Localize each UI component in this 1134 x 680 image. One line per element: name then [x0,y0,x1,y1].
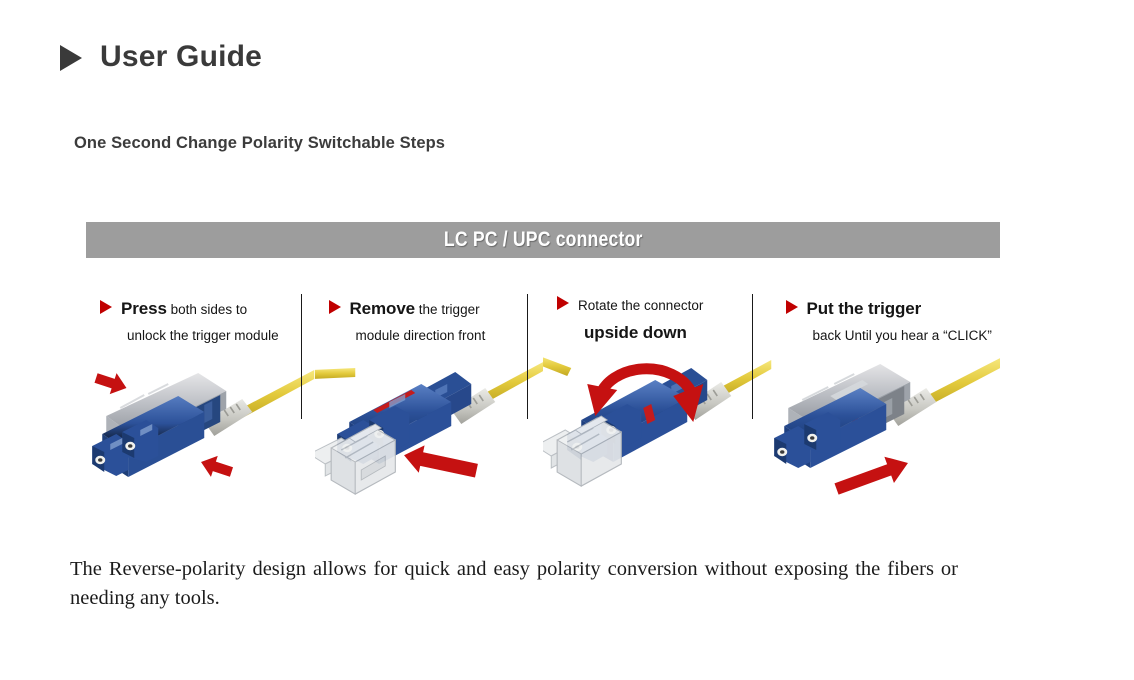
step-3: Rotate the connector upside down [543,258,772,498]
put-back-arrow [831,450,912,498]
press-arrow-bottom [198,452,235,483]
step-1-illustration [86,350,315,498]
step-2: Remove the trigger module direction fron… [315,258,544,498]
step-1-rest: both sides to [167,302,247,317]
step-1-line-1: Press both sides to [100,294,305,324]
step-1: Press both sides to unlock the trigger m… [86,258,315,498]
step-divider-2 [527,294,528,419]
step-3-rest: Rotate the connector [578,298,703,313]
step-4-illustration [772,350,1001,498]
step-2-rest: the trigger [415,302,480,317]
step-2-line-2: module direction front [329,324,534,348]
figure-banner: LC PC / UPC connector [86,222,1000,258]
bullet-triangle-icon [557,296,569,310]
step-4: Put the trigger back Until you hear a “C… [772,258,1001,498]
play-triangle-icon [60,45,82,71]
step-divider-3 [752,294,753,419]
instruction-figure: LC PC / UPC connector Press both sides t… [86,222,1000,498]
step-3-caption: Rotate the connector upside down [543,294,772,347]
step-3-illustration [543,350,772,498]
steps-row: Press both sides to unlock the trigger m… [86,258,1000,498]
step-4-caption: Put the trigger back Until you hear a “C… [772,294,1001,347]
step-2-caption: Remove the trigger module direction fron… [315,294,544,347]
bullet-triangle-icon [329,300,341,314]
page-title: User Guide [100,40,262,74]
step-divider-1 [301,294,302,419]
bullet-triangle-icon [786,300,798,314]
step-1-strong: Press [121,299,167,318]
step-2-strong: Remove [350,299,416,318]
step-3-line-2: upside down [557,318,762,348]
step-2-line-1: Remove the trigger [329,294,534,324]
step-4-line-1: Put the trigger [786,294,991,324]
step-4-strong: Put the trigger [807,299,922,318]
press-arrow-top [93,368,130,399]
step-2-illustration [315,350,544,498]
step-4-line-2: back Until you hear a “CLICK” [786,324,991,348]
page-header: User Guide [60,40,262,74]
step-1-line-2: unlock the trigger module [100,324,305,348]
section-subtitle: One Second Change Polarity Switchable St… [74,134,445,153]
body-paragraph: The Reverse-polarity design allows for q… [70,555,958,613]
step-3-line-1: Rotate the connector [557,294,762,318]
figure-banner-title: LC PC / UPC connector [444,228,643,252]
remove-arrow [401,442,479,485]
bullet-triangle-icon [100,300,112,314]
step-1-caption: Press both sides to unlock the trigger m… [86,294,315,347]
